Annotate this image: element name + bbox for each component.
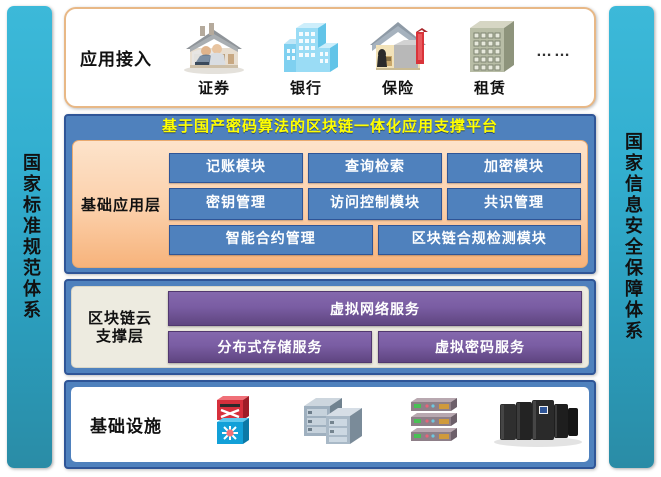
server-rack-icon [298, 392, 370, 457]
application-access-label: 应用接入 [80, 45, 166, 70]
blockchain-cloud-label: 区块链云 支撑层 [72, 309, 168, 345]
basic-application-layer: 基础应用层 记账模块 查询检索 加密模块 密钥管理 访问控制模块 共识管理 智能… [72, 140, 588, 268]
cloud-service-row: 分布式存储服务 虚拟密码服务 [168, 331, 582, 363]
service-virtual-cryptography[interactable]: 虚拟密码服务 [378, 331, 582, 363]
infrastructure-label: 基础设施 [71, 412, 181, 437]
blockchain-cloud-frame: 区块链云 支撑层 虚拟网络服务 分布式存储服务 虚拟密码服务 [64, 279, 596, 375]
securities-house-icon [176, 18, 252, 76]
service-virtual-network[interactable]: 虚拟网络服务 [168, 291, 582, 326]
blockchain-cloud-label-line1: 区块链云 [72, 309, 168, 327]
module-row-3: 智能合约管理 区块链合规检测模块 [169, 225, 581, 255]
basic-application-layer-label: 基础应用层 [73, 194, 169, 215]
diagram-canvas: 国家标准规范体系 国家信息安全保障体系 应用接入 [0, 0, 661, 477]
blade-servers-icon [405, 392, 467, 457]
infra-item-router-switch [181, 394, 283, 456]
infrastructure-frame: 基础设施 [64, 380, 596, 469]
module-ledger[interactable]: 记账模块 [169, 153, 303, 183]
mainframe-icon [490, 392, 586, 457]
module-consensus-management[interactable]: 共识管理 [447, 188, 581, 220]
application-access-panel: 应用接入 [64, 7, 596, 108]
left-pillar-national-standard-system: 国家标准规范体系 [7, 6, 52, 468]
blockchain-cloud-support-layer: 区块链云 支撑层 虚拟网络服务 分布式存储服务 虚拟密码服务 [71, 286, 589, 368]
bank-building-icon [268, 18, 344, 76]
service-distributed-storage[interactable]: 分布式存储服务 [168, 331, 372, 363]
insurance-house-icon [360, 18, 436, 76]
right-pillar-label: 国家信息安全保障体系 [622, 132, 641, 342]
application-access-items: 证券 [166, 18, 594, 98]
platform-title: 基于国产密码算法的区块链一体化应用支撑平台 [66, 116, 594, 137]
module-access-control[interactable]: 访问控制模块 [308, 188, 442, 220]
module-encryption[interactable]: 加密模块 [447, 153, 581, 183]
access-caption-insurance: 保险 [382, 77, 414, 98]
access-item-leasing: 租赁 [444, 18, 536, 98]
platform-frame: 基于国产密码算法的区块链一体化应用支撑平台 基础应用层 记账模块 查询检索 加密… [64, 114, 596, 274]
router-switch-icon [209, 392, 255, 457]
left-pillar-label: 国家标准规范体系 [20, 153, 39, 321]
access-ellipsis: …… [536, 43, 572, 61]
blockchain-cloud-label-line2: 支撑层 [72, 327, 168, 345]
infrastructure-layer: 基础设施 [71, 387, 589, 462]
infrastructure-items [181, 394, 589, 456]
access-item-bank: 银行 [260, 18, 352, 98]
infra-item-blade-servers [385, 394, 487, 456]
infra-item-mainframe [487, 394, 589, 456]
application-module-grid: 记账模块 查询检索 加密模块 密钥管理 访问控制模块 共识管理 智能合约管理 区… [169, 153, 587, 255]
cloud-service-stack: 虚拟网络服务 分布式存储服务 虚拟密码服务 [168, 291, 588, 363]
infra-item-server-rack [283, 394, 385, 456]
access-caption-securities: 证券 [198, 77, 230, 98]
module-row-2: 密钥管理 访问控制模块 共识管理 [169, 188, 581, 220]
access-caption-leasing: 租赁 [474, 77, 506, 98]
module-smart-contract-management[interactable]: 智能合约管理 [169, 225, 373, 255]
right-pillar-national-infosec-system: 国家信息安全保障体系 [609, 6, 654, 468]
module-key-management[interactable]: 密钥管理 [169, 188, 303, 220]
module-blockchain-compliance-detection[interactable]: 区块链合规检测模块 [378, 225, 582, 255]
access-item-insurance: 保险 [352, 18, 444, 98]
module-row-1: 记账模块 查询检索 加密模块 [169, 153, 581, 183]
module-query-search[interactable]: 查询检索 [308, 153, 442, 183]
leasing-building-icon [452, 18, 528, 76]
access-item-securities: 证券 [168, 18, 260, 98]
access-caption-bank: 银行 [290, 77, 322, 98]
